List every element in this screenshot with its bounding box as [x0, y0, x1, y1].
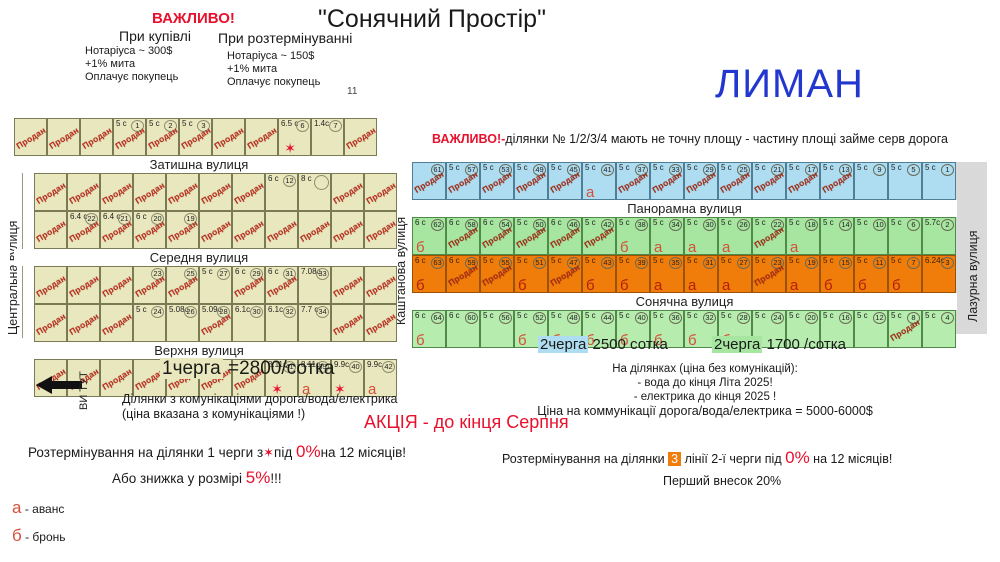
plot-cell-19[interactable]: 5 с19а [786, 255, 820, 293]
queue1-discount-percent: 5% [246, 468, 271, 487]
plot-number: 26 [184, 306, 197, 318]
sold-stamp: Продан [80, 125, 113, 151]
plot-area: 6 с [551, 218, 562, 228]
plot-area: 5 с [891, 256, 902, 266]
queue2-line-badge: 3 [668, 452, 681, 466]
slide-number: 11 [347, 86, 357, 97]
status-letter: а [688, 239, 696, 255]
status-letter: б [892, 277, 901, 293]
plot-number: 56 [499, 312, 512, 324]
plot-cell[interactable]: Продан [80, 118, 113, 156]
status-letter: б [586, 277, 595, 293]
status-letter: а [722, 239, 730, 255]
plot-area: 6.1с [235, 305, 250, 315]
plot-cell-23[interactable]: 23Продан [133, 266, 166, 304]
plot-cell[interactable]: Продан [14, 118, 47, 156]
plot-cell-2[interactable]: 5.7с2 [922, 217, 956, 255]
plot-cell-3[interactable]: 5 с3Продан [179, 118, 212, 156]
plot-number: 15 [839, 257, 852, 269]
legend-advance: а - аванс [12, 498, 64, 518]
plot-number: 48 [567, 312, 580, 324]
plot-cell-26[interactable]: 5 с26а [718, 217, 752, 255]
plot-area: 5 с [755, 311, 766, 321]
region-title: ЛИМАН [715, 62, 864, 107]
plot-cell[interactable]: Продан [34, 173, 67, 211]
plot-number: 34 [316, 306, 329, 318]
sold-stamp: Продан [364, 218, 397, 244]
plot-area: 5 с [687, 311, 698, 321]
plot-number: 24 [771, 312, 784, 324]
status-letter: б [858, 277, 867, 293]
plot-cell-51[interactable]: 5 с51б [514, 255, 548, 293]
plot-cell-61[interactable]: 61Продан [412, 162, 446, 200]
plot-number: 51 [533, 257, 546, 269]
plot-area: 5 с [551, 163, 562, 173]
plot-cell-24[interactable]: 5 с24 [133, 304, 166, 342]
queue2-communications-note: На ділянках (ціна без комунікацій): - во… [470, 362, 940, 418]
plot-cell[interactable]: Продан [245, 118, 278, 156]
plot-cell-47[interactable]: 5 с47Продан [548, 255, 582, 293]
queue1-comm-line-2: (ціна вказана з комунікаціями !) [122, 407, 398, 422]
important-note-plots: ВАЖЛИВО!-ділянки № 1/2/3/4 мають не точн… [425, 131, 955, 147]
plot-cell-42[interactable]: 5 с42Продан [582, 217, 616, 255]
plot-area: 5 с [857, 163, 868, 173]
plot-cell-11[interactable]: 5 с11б [854, 255, 888, 293]
plot-area: 5 с [619, 163, 630, 173]
plot-number: 5 [907, 164, 920, 176]
plot-cell-53[interactable]: 5 с53Продан [480, 162, 514, 200]
plot-area: 5 с [789, 311, 800, 321]
plot-cell-49[interactable]: 5 с49Продан [514, 162, 548, 200]
plot-area: 5 с [517, 163, 528, 173]
plot-number: 60 [465, 312, 478, 324]
status-letter: а [722, 277, 730, 293]
plot-number: 28 [737, 312, 750, 324]
plot-cell-33[interactable]: 7.08с33 [298, 266, 331, 304]
plot-cell-5[interactable]: 5 с5 [888, 162, 922, 200]
queue2-row-orange: 6 с63б6 с59Продан5 с55Продан5 с51б5 с47П… [412, 255, 987, 293]
plot-area: 5 с [585, 163, 596, 173]
plot-number: 43 [601, 257, 614, 269]
plot-cell-50[interactable]: 5 с50Продан [514, 217, 548, 255]
plot-cell-60[interactable]: 6 с60 [446, 310, 480, 348]
plot-cell[interactable]: Продан [232, 211, 265, 249]
plot-number: 62 [431, 219, 444, 231]
status-letter: а [586, 184, 594, 200]
plot-number: 64 [431, 312, 444, 324]
sold-stamp: Продан [331, 273, 364, 299]
status-letter: б [824, 277, 833, 293]
plot-cell-27[interactable]: 5 с27 [199, 266, 232, 304]
queue2-blue-badge: 2черга [538, 336, 588, 353]
plot-number: 16 [839, 312, 852, 324]
plot-cell[interactable]: Продан [199, 211, 232, 249]
plot-area: 6 с [415, 218, 426, 228]
plot-area: 5 с [653, 163, 664, 173]
status-letter: б [518, 332, 527, 348]
plot-number: 27 [217, 268, 230, 280]
sold-stamp: Продан [199, 180, 232, 206]
queue1-communications-note: Ділянки з комунікаціями дорога/вода/елек… [122, 392, 398, 422]
plot-number: 63 [431, 257, 444, 269]
plot-cell-4[interactable]: 5 с4 [922, 310, 956, 348]
important-label-top: ВАЖЛИВО! [152, 10, 235, 27]
sold-stamp: Продан [34, 180, 67, 206]
plot-cell[interactable]: Продан [67, 266, 100, 304]
star-icon: ✶ [284, 141, 296, 155]
queue2-row-blue: 61Продан5 с57Продан5 с53Продан5 с49Прода… [412, 162, 987, 200]
plot-cell[interactable]: Продан [67, 173, 100, 211]
plot-area: 5 с [449, 163, 460, 173]
plot-cell-57[interactable]: 5 с57Продан [446, 162, 480, 200]
queue1-row-zatyshna: ПроданПроданПродан5 с1Продан5 с2Продан5 … [8, 118, 406, 156]
plot-area: 5 с [823, 163, 834, 173]
sold-stamp: Продан [47, 125, 80, 151]
plot-number: 40 [349, 361, 362, 373]
street-label-sonyachna: Сонячна вулиця [412, 293, 957, 310]
installment-note-line-2: +1% мита [218, 63, 368, 76]
sold-stamp: Продан [67, 311, 100, 337]
queue1-row-serednya-top: ПроданПроданПроданПроданПроданПроданПрод… [8, 173, 406, 211]
plot-area: 6 с [268, 174, 279, 184]
plot-cell-31[interactable]: 6 с31Продан [265, 266, 298, 304]
plot-area: 5 с [149, 119, 160, 129]
plot-cell-34[interactable]: 7.7 с34 [298, 304, 331, 342]
queue1-plot-map: ПроданПроданПродан5 с1Продан5 с2Продан5 … [8, 118, 406, 397]
queue1-installment-post: на 12 місяців! [321, 445, 406, 460]
plot-cell-14[interactable]: 5 с14 [820, 217, 854, 255]
plot-area: 5 с [136, 305, 147, 315]
plot-number: 27 [737, 257, 750, 269]
sold-stamp: Продан [100, 311, 133, 337]
plot-cell[interactable]: Продан [199, 173, 232, 211]
plot-cell-30[interactable]: 5 с30а [684, 217, 718, 255]
plot-cell-2[interactable]: 5 с2Продан [146, 118, 179, 156]
plot-area: 6 с [136, 212, 147, 222]
star-icon-q1: ✶ [263, 445, 274, 460]
plot-cell-39[interactable]: 5 с39б [616, 255, 650, 293]
queue2-installment-line: Розтермінування на ділянки 3 лінії 2-ї ч… [502, 448, 892, 468]
legend-reserved-mark: б [12, 526, 22, 545]
queue2-green-value: 1700 /сотка [767, 336, 847, 353]
plot-area: 5 с [182, 119, 193, 129]
sold-stamp: Продан [67, 180, 100, 206]
plot-area: 5 с [116, 119, 127, 129]
plot-number: 35 [669, 257, 682, 269]
queue1-discount-line: Або знижка у розмірі 5%!!! [112, 468, 282, 488]
queue2-blue-value: 2500 сотка [593, 336, 668, 353]
plot-cell[interactable]: Продан [331, 304, 364, 342]
plot-number: 7 [907, 257, 920, 269]
installment-note-line-3: Оплачує покупець [218, 76, 368, 89]
plot-cell[interactable]: Продан [100, 266, 133, 304]
street-label-zatyshna: Затишна вулиця [14, 156, 384, 173]
plot-area: 5 с [789, 256, 800, 266]
plot-area: 5 с [721, 256, 732, 266]
plot-cell[interactable]: Продан [100, 173, 133, 211]
plot-cell-21[interactable]: 5 с21Продан [752, 162, 786, 200]
plot-area: 5 с [687, 256, 698, 266]
queue2-plot-map: 61Продан5 с57Продан5 с53Продан5 с49Прода… [412, 162, 987, 348]
purchase-note: При купівлі Нотаріуса ~ 300$ +1% мита Оп… [85, 28, 225, 84]
sold-stamp: Продан [133, 180, 166, 206]
plot-cell[interactable]: Продан [364, 211, 397, 249]
plot-cell-15[interactable]: 5 с15б [820, 255, 854, 293]
plot-area: 5 с [619, 256, 630, 266]
plot-cell[interactable]: Продан [34, 266, 67, 304]
legend-advance-mark: а [12, 498, 21, 517]
plot-number: 30 [250, 306, 263, 318]
queue1-discount-post: !!! [270, 471, 281, 486]
plot-cell-22[interactable]: 6.4 с22Продан [67, 211, 100, 249]
plot-number: 52 [533, 312, 546, 324]
plot-cell-12[interactable]: 6 с12 [265, 173, 298, 211]
plot-area: 5 с [789, 163, 800, 173]
plot-cell-12[interactable]: 5 с12 [854, 310, 888, 348]
plot-number: 12 [283, 175, 296, 187]
plot-number: 2 [941, 219, 954, 231]
plot-area: 5 с [551, 311, 562, 321]
plot-area: 5 с [517, 311, 528, 321]
plot-cell[interactable]: Продан [331, 211, 364, 249]
plot-cell-29[interactable]: 6 с29Продан [232, 266, 265, 304]
street-label-verhnya: Верхня вулиця [14, 342, 384, 359]
plot-cell-31[interactable]: 5 с31а [684, 255, 718, 293]
plot-cell-32[interactable]: 6.1с32 [265, 304, 298, 342]
installment-note: При розтермінуванні Нотаріуса ~ 150$ +1%… [218, 30, 368, 89]
sold-stamp: Продан [232, 218, 265, 244]
plot-area: 5 с [619, 218, 630, 228]
plot-cell-33[interactable]: 5 с33Продан [650, 162, 684, 200]
queue2-installment-post: на 12 місяців! [813, 452, 892, 466]
plot-cell-1[interactable]: 5 с1 [922, 162, 956, 200]
plot-area: 5 с [619, 311, 630, 321]
plot-cell-45[interactable]: 5 с45Продан [548, 162, 582, 200]
plot-cell-19[interactable]: 19Продан [166, 211, 199, 249]
plot-cell-18[interactable]: 5 с18а [786, 217, 820, 255]
plot-cell[interactable]: Продан [331, 173, 364, 211]
important-label-2: ВАЖЛИВО!- [432, 132, 505, 146]
plot-area: 5 с [687, 163, 698, 173]
plot-area: 6 с [235, 267, 246, 277]
plot-number: 40 [635, 312, 648, 324]
purchase-note-line-3: Оплачує покупець [85, 71, 225, 84]
plot-cell-34[interactable]: 5 с34а [650, 217, 684, 255]
plot-cell-10[interactable]: 5 с10 [854, 217, 888, 255]
plot-cell-26[interactable]: 5.08с26 [166, 304, 199, 342]
plot-number: 6 [907, 219, 920, 231]
plot-area: 5 с [721, 218, 732, 228]
sold-stamp: Продан [100, 180, 133, 206]
sold-stamp: Продан [364, 273, 397, 299]
plot-cell-56[interactable]: 5 с56 [480, 310, 514, 348]
plot-area: 5 с [517, 218, 528, 228]
queue1-price: 1черга =2800/сотка [160, 358, 334, 380]
plot-cell-64[interactable]: 6 с64б [412, 310, 446, 348]
plot-area: 5 с [857, 311, 868, 321]
plot-cell[interactable]: Продан [364, 266, 397, 304]
plot-cell[interactable]: Продан [344, 118, 377, 156]
plot-cell-59[interactable]: 6 с59Продан [446, 255, 480, 293]
queue1-row-verhnya-mid: ПроданПроданПродан5 с245.08с265.09с28Про… [8, 304, 406, 342]
direction-arrow-icon [36, 375, 82, 400]
plot-area: 6 с [268, 267, 279, 277]
queue2-row-green-top: 6 с62б6 с58Продан6 с54Продан5 с50Продан6… [412, 217, 987, 255]
plot-cell-7[interactable]: 1.4с7 [311, 118, 344, 156]
plot-number: 11 [873, 257, 886, 269]
plot-cell-17[interactable]: 5 с17Продан [786, 162, 820, 200]
plot-cell-6[interactable]: 6.5 с6✶ [278, 118, 311, 156]
plot-cell-38[interactable]: 5 с38б [616, 217, 650, 255]
plot-area: 5 с [517, 256, 528, 266]
plot-cell-35[interactable]: 5 с35а [650, 255, 684, 293]
sold-stamp: Продан [34, 311, 67, 337]
plot-area: 5 с [585, 256, 596, 266]
plot-number: 42 [382, 361, 395, 373]
plot-cell-58[interactable]: 6 с58Продан [446, 217, 480, 255]
sold-stamp: Продан [34, 273, 67, 299]
plot-cell-55[interactable]: 5 с55Продан [480, 255, 514, 293]
street-label-panoramna: Панорамна вулиця [412, 200, 957, 217]
plot-area: 5 с [823, 256, 834, 266]
plot-cell-28[interactable]: 5.09с28Продан [199, 304, 232, 342]
sold-stamp: Продан [133, 273, 166, 299]
plot-cell-13[interactable]: 5 с13Продан [820, 162, 854, 200]
status-letter: б [620, 239, 629, 255]
queue2-green-badge: 2черга [712, 336, 762, 353]
plot-number: 39 [635, 257, 648, 269]
plot-cell[interactable]: Продан [47, 118, 80, 156]
plot-area: 5 с [891, 218, 902, 228]
plot-cell-37[interactable]: 5 с37Продан [616, 162, 650, 200]
plot-cell[interactable]: Продан [331, 266, 364, 304]
purchase-note-line-1: Нотаріуса ~ 300$ [85, 45, 225, 58]
plot-number: 33 [316, 268, 329, 280]
plot-area: 5 с [755, 163, 766, 173]
plot-cell[interactable]: Продан [166, 173, 199, 211]
plot-cell[interactable]: Продан [100, 304, 133, 342]
plot-area: 5 с [653, 311, 664, 321]
sold-stamp: Продан [166, 218, 199, 244]
plot-cell[interactable]: Продан [364, 304, 397, 342]
queue1-comm-line-1: Ділянки з комунікаціями дорога/вода/елек… [122, 392, 398, 407]
plot-cell-63[interactable]: 6 с63б [412, 255, 446, 293]
plot-area: 6 с [415, 311, 426, 321]
plot-cell-25[interactable]: 5 с25Продан [718, 162, 752, 200]
plot-number: 30 [703, 219, 716, 231]
plot-number: 19 [805, 257, 818, 269]
plot-area: 8 с [301, 174, 312, 184]
queue2-comm-line-1: На ділянках (ціна без комунікацій): [470, 362, 940, 376]
plot-cell-41[interactable]: 5 с41а [582, 162, 616, 200]
plot-area: 5.7с [925, 218, 940, 228]
sold-stamp: Продан [331, 180, 364, 206]
sold-stamp: Продан [344, 125, 377, 151]
plot-area: 6 с [449, 218, 460, 228]
plot-area: 5 с [653, 218, 664, 228]
plot-area: 5 с [551, 256, 562, 266]
plot-cell-23[interactable]: 5 с23Продан [752, 255, 786, 293]
status-letter: а [688, 277, 696, 293]
plot-cell-7[interactable]: 5 с7б [888, 255, 922, 293]
sold-stamp: Продан [265, 218, 298, 244]
plot-area: 5 с [823, 218, 834, 228]
sold-stamp: Продан [166, 273, 199, 299]
plot-number: 41 [601, 164, 614, 176]
plot-cell-21[interactable]: 6.4 с21Продан [100, 211, 133, 249]
plot-cell-30[interactable]: 6.1с30 [232, 304, 265, 342]
plot-cell[interactable]: Продан [34, 211, 67, 249]
plot-number: 10 [873, 219, 886, 231]
plot-cell-25[interactable]: 25Продан [166, 266, 199, 304]
plot-area: 5 с [857, 218, 868, 228]
plot-number: 3 [941, 257, 954, 269]
plot-cell-8[interactable]: 5 с8Продан [888, 310, 922, 348]
sold-stamp: Продан [245, 125, 278, 151]
plot-number: 4 [941, 312, 954, 324]
plot-cell[interactable]: Продан [212, 118, 245, 156]
status-letter: б [620, 277, 629, 293]
sold-stamp: Продан [166, 180, 199, 206]
sold-stamp: Продан [100, 366, 133, 392]
queue2-comm-line-2: - вода до кінця Літа 2025! [470, 376, 940, 390]
plot-cell-29[interactable]: 5 с29Продан [684, 162, 718, 200]
plot-area: 6 с [483, 218, 494, 228]
status-letter: б [416, 332, 425, 348]
plot-cell-62[interactable]: 6 с62б [412, 217, 446, 255]
purchase-note-title: При купівлі [85, 28, 225, 44]
street-label-serednya: Середня вулиця [14, 249, 384, 266]
plot-cell[interactable]: Продан [298, 211, 331, 249]
purchase-note-line-2: +1% мита [85, 58, 225, 71]
plot-area: 6 с [449, 311, 460, 321]
plot-cell-20[interactable]: 6 с20Продан [133, 211, 166, 249]
plot-cell-1[interactable]: 5 с1Продан [113, 118, 146, 156]
plot-cell[interactable]: Продан [232, 173, 265, 211]
plot-cell-27[interactable]: 5 с27а [718, 255, 752, 293]
queue2-comm-line-4: Ціна на коммунікації дорога/вода/електри… [470, 404, 940, 418]
plot-number: 31 [703, 257, 716, 269]
plot-area: 9.9с [334, 360, 349, 370]
plot-cell-9[interactable]: 5 с9 [854, 162, 888, 200]
plot-area: 5 с [925, 163, 936, 173]
legend-advance-text: - аванс [25, 502, 65, 516]
plot-area: 5 с [483, 256, 494, 266]
plot-cell-6[interactable]: 5 с6 [888, 217, 922, 255]
plot-cell-22[interactable]: 5 с22Продан [752, 217, 786, 255]
plot-cell-3[interactable]: 6.24с3 [922, 255, 956, 293]
queue1-installment-pre: Розтермінування на ділянки 1 черги з [28, 445, 263, 460]
plot-cell-43[interactable]: 5 с43б [582, 255, 616, 293]
plot-area: 9.9с [367, 360, 382, 370]
plot-number: 7 [329, 120, 342, 132]
sold-stamp: Продан [67, 273, 100, 299]
plot-cell[interactable]: Продан [133, 173, 166, 211]
plot-cell[interactable]: Продан [34, 304, 67, 342]
plot-cell[interactable]: 8 с [298, 173, 331, 211]
sold-stamp: Продан [100, 273, 133, 299]
plot-number: 44 [601, 312, 614, 324]
status-letter: б [518, 277, 527, 293]
plot-cell[interactable]: Продан [67, 304, 100, 342]
plot-cell[interactable]: Продан [364, 173, 397, 211]
plot-cell-54[interactable]: 6 с54Продан [480, 217, 514, 255]
plot-cell[interactable]: Продан [265, 211, 298, 249]
queue1-row-serednya-bottom: Продан6.4 с22Продан6.4 с21Продан6 с20Про… [8, 211, 406, 249]
plot-cell-46[interactable]: 6 с46Продан [548, 217, 582, 255]
sold-stamp: Продан [212, 125, 245, 151]
legend-reserved-text: - бронь [25, 530, 65, 544]
